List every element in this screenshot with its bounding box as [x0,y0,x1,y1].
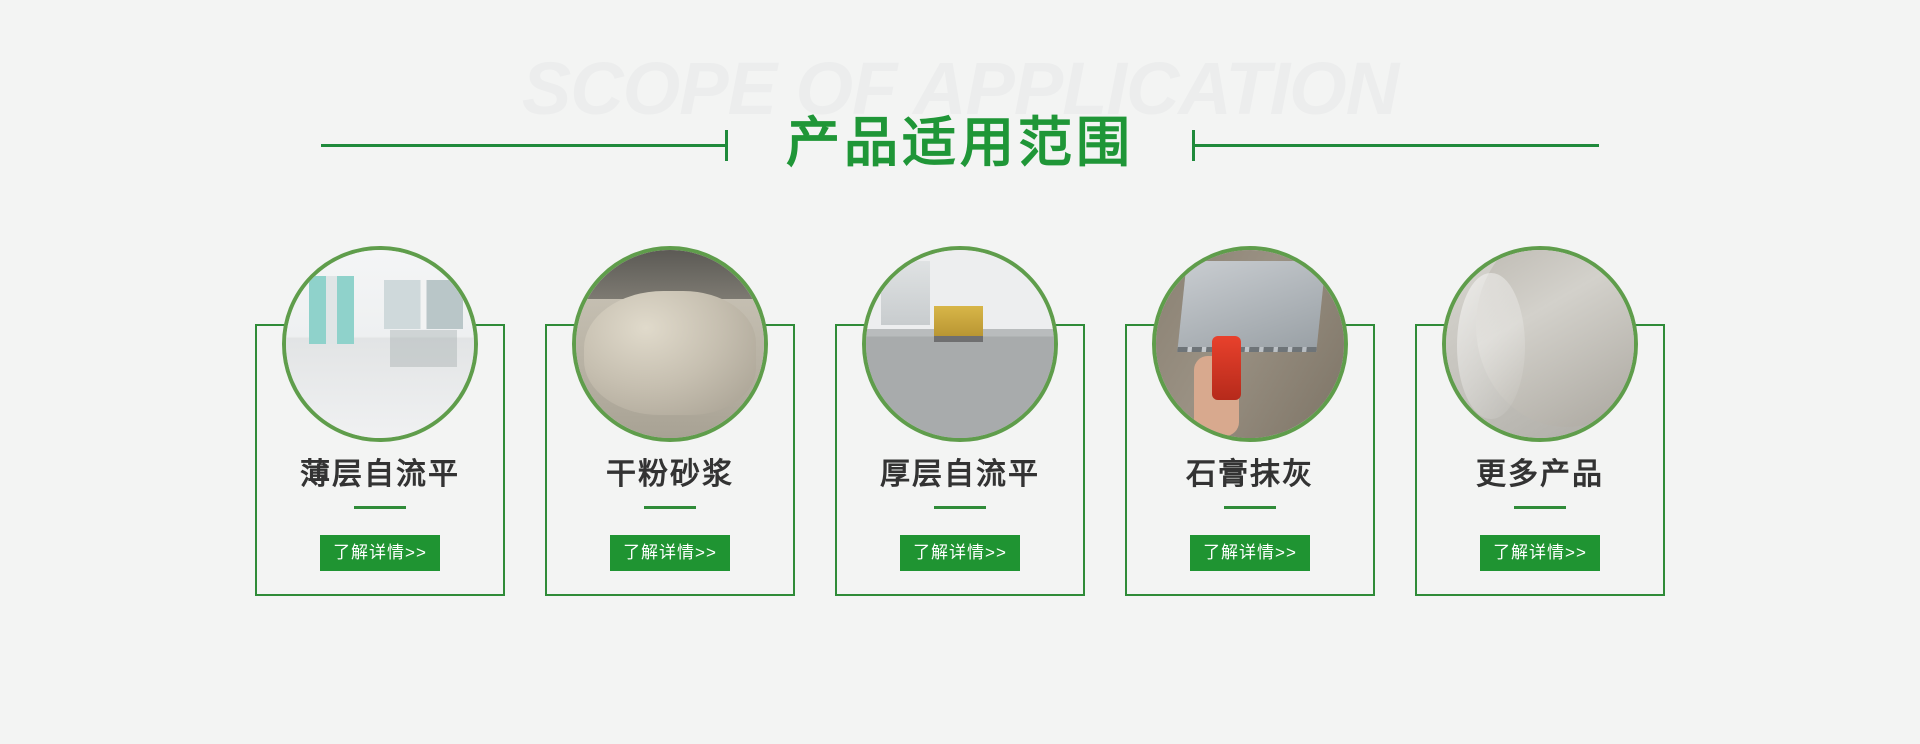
frame-left-edge [255,324,257,596]
card-title: 厚层自流平 [880,460,1040,490]
frame-bottom-edge [835,594,1085,596]
frame-bottom-edge [545,594,795,596]
learn-more-button[interactable]: 了解详情>> [610,535,730,571]
product-card-thick-self-levelling[interactable]: 厚层自流平 了解详情>> [835,246,1085,596]
frame-left-edge [1415,324,1417,596]
title-rule-right [1192,144,1599,147]
card-divider [1224,506,1276,509]
frame-right-edge [1373,324,1375,596]
frame-right-edge [1663,324,1665,596]
card-title: 薄层自流平 [300,460,460,490]
frame-right-edge [503,324,505,596]
frame-bottom-edge [255,594,505,596]
card-title: 干粉砂浆 [606,460,734,490]
learn-more-button[interactable]: 了解详情>> [1190,535,1310,571]
product-card-more-products[interactable]: 更多产品 了解详情>> [1415,246,1665,596]
learn-more-button[interactable]: 了解详情>> [900,535,1020,571]
frame-right-edge [793,324,795,596]
section-title-row: 产品适用范围 [0,118,1920,172]
card-thumbnail[interactable] [282,246,478,442]
thin-self-levelling-floor-photo [286,250,474,438]
card-thumbnail[interactable] [1442,246,1638,442]
card-thumbnail[interactable] [572,246,768,442]
card-title: 更多产品 [1476,460,1604,490]
thick-self-levelling-floor-photo [866,250,1054,438]
frame-bottom-edge [1415,594,1665,596]
title-rule-left [321,144,728,147]
product-category-list: 薄层自流平 了解详情>> 干粉砂浆 了解详情>> 厚层自流平 [255,246,1665,596]
more-products-slab-photo [1446,250,1634,438]
frame-right-edge [1083,324,1085,596]
frame-left-edge [835,324,837,596]
frame-bottom-edge [1125,594,1375,596]
product-card-gypsum-plastering[interactable]: 石膏抹灰 了解详情>> [1125,246,1375,596]
product-card-thin-self-levelling[interactable]: 薄层自流平 了解详情>> [255,246,505,596]
card-thumbnail[interactable] [1152,246,1348,442]
section-header: SCOPE OF APPLICATION 产品适用范围 [0,0,1920,210]
frame-left-edge [545,324,547,596]
card-divider [354,506,406,509]
card-title: 石膏抹灰 [1186,460,1314,490]
card-divider [644,506,696,509]
gypsum-plastering-trowel-photo [1156,250,1344,438]
card-divider [1514,506,1566,509]
learn-more-button[interactable]: 了解详情>> [1480,535,1600,571]
card-divider [934,506,986,509]
dry-powder-mortar-photo [576,250,764,438]
card-thumbnail[interactable] [862,246,1058,442]
frame-left-edge [1125,324,1127,596]
page-title: 产品适用范围 [728,116,1192,170]
product-card-dry-powder-mortar[interactable]: 干粉砂浆 了解详情>> [545,246,795,596]
learn-more-button[interactable]: 了解详情>> [320,535,440,571]
